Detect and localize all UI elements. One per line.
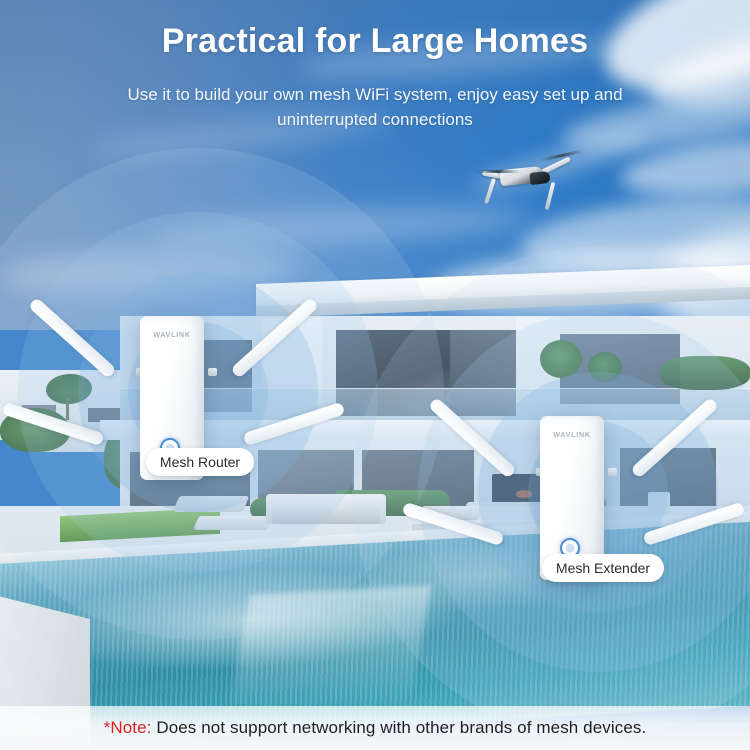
footer-note: *Note: Does not support networking with … [104, 718, 647, 738]
status-led-core [566, 544, 575, 553]
sun-lounger [193, 516, 273, 530]
pool-reflection [229, 585, 432, 714]
mesh-extender-device[interactable]: WAVLINK [500, 350, 700, 580]
mesh-extender-label: Mesh Extender [542, 554, 664, 582]
sun-lounger [173, 496, 249, 512]
outdoor-sofa-seat [272, 506, 380, 524]
palm-trunk [66, 398, 69, 420]
drone-camera-gimbal [529, 171, 550, 185]
promo-banner: WAVLINK Mesh Router WAVLINK Mesh Extende… [0, 0, 750, 750]
antenna-hinge [608, 468, 617, 476]
mesh-extender-label-text: Mesh Extender [556, 560, 650, 576]
page-title: Practical for Large Homes [0, 22, 750, 61]
subtitle-line-2: uninterrupted connections [72, 107, 678, 132]
wavlink-logo: WAVLINK [540, 432, 604, 439]
mesh-router-device[interactable]: WAVLINK [100, 250, 300, 480]
wavlink-logo: WAVLINK [140, 332, 204, 339]
drone [478, 152, 588, 214]
subtitle-line-1: Use it to build your own mesh WiFi syste… [72, 82, 678, 107]
antenna-hinge [208, 368, 217, 376]
drone-landing-leg [484, 178, 496, 204]
mesh-router-label: Mesh Router [146, 448, 254, 476]
note-prefix: *Note: [104, 718, 152, 737]
page-subtitle: Use it to build your own mesh WiFi syste… [72, 82, 678, 132]
drone-propeller [476, 170, 520, 173]
drone-landing-leg [545, 182, 556, 210]
footer-note-bar: *Note: Does not support networking with … [0, 706, 750, 750]
note-body: Does not support networking with other b… [152, 718, 647, 737]
mesh-router-label-text: Mesh Router [160, 454, 240, 470]
